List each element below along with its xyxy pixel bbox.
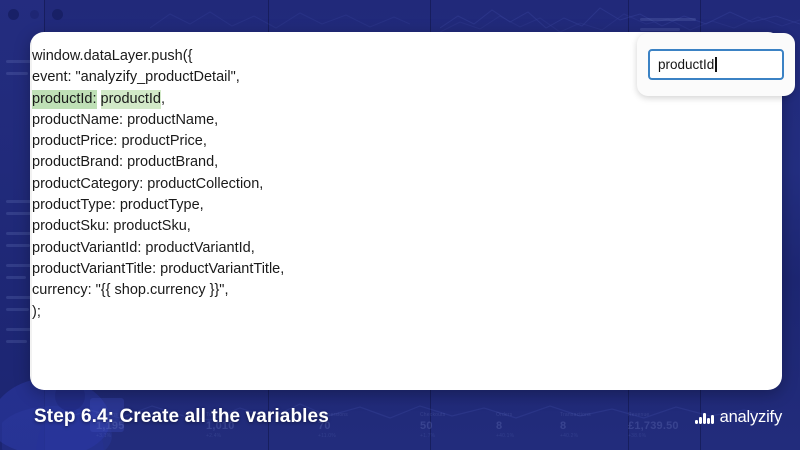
code-text: productName: productName, [32,112,218,128]
code-line: productVariantTitle: productVariantTitle… [32,259,284,280]
screenshot-root: Sessions1,195+3.1% Total users1,010+2.4%… [0,0,800,450]
step-label: Step 6.4: Create all the variables [34,406,329,428]
analyzify-logo: analyzify [695,408,782,427]
caption-bar: Step 6.4: Create all the variables analy… [0,390,800,450]
code-line: productId: productId, [32,89,284,110]
code-line: productCategory: productCollection, [32,174,284,195]
window-dot-icon [8,9,19,20]
code-text: event: "analyzify_productDetail", [32,69,240,85]
code-line: currency: "{{ shop.currency }}", [32,280,284,301]
window-dot-icon [52,9,63,20]
brand-name: analyzify [720,408,782,427]
bar-chart-icon [695,411,713,424]
code-line: productSku: productSku, [32,216,284,237]
window-dot-icon [30,10,39,19]
code-line: productVariantId: productVariantId, [32,238,284,259]
code-line: window.dataLayer.push({ [32,46,284,67]
code-line: productType: productType, [32,195,284,216]
datalayer-code-snippet[interactable]: window.dataLayer.push({event: "analyzify… [32,46,284,323]
code-line: ); [32,302,284,323]
variable-name-input-value: productId [658,57,714,72]
code-line: event: "analyzify_productDetail", [32,67,284,88]
variable-name-input[interactable]: productId [648,49,784,80]
code-line: productPrice: productPrice, [32,131,284,152]
code-highlight: productId: [32,90,97,109]
code-text: , [161,91,165,107]
code-text: currency: "{{ shop.currency }}", [32,282,228,298]
code-text: productCategory: productCollection, [32,176,263,192]
code-text: productVariantId: productVariantId, [32,240,255,256]
code-line: productName: productName, [32,110,284,131]
code-text: productType: productType, [32,197,204,213]
code-highlight: productId [101,90,161,109]
code-text [97,91,101,107]
text-caret [715,57,717,72]
code-text: productBrand: productBrand, [32,154,218,170]
code-line: productBrand: productBrand, [32,152,284,173]
code-text: window.dataLayer.push({ [32,48,192,64]
code-text: productVariantTitle: productVariantTitle… [32,261,284,277]
code-text: productPrice: productPrice, [32,133,207,149]
code-text: productSku: productSku, [32,218,191,234]
code-text: ); [32,304,41,320]
